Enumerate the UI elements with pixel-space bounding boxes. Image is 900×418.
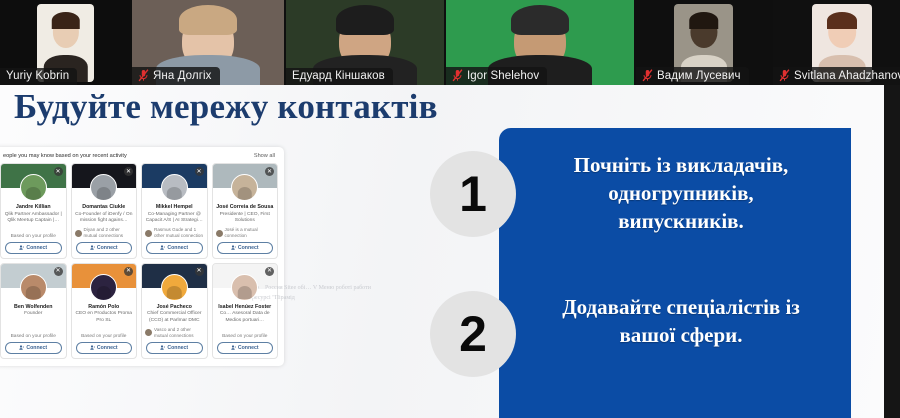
connect-button-label: Connect bbox=[97, 245, 118, 251]
add-person-icon bbox=[90, 245, 95, 250]
mutual-connections-text: José is a mutual connection bbox=[225, 227, 275, 238]
card-subtext: Based on your profile bbox=[222, 330, 267, 339]
participant-tile[interactable]: Яна Долгіх bbox=[132, 0, 284, 85]
avatar bbox=[90, 274, 117, 301]
person-headline: Co… Asesoral Data de Medios portuari… bbox=[213, 311, 278, 324]
connect-button[interactable]: Connect bbox=[146, 342, 203, 354]
person-suggestion-card[interactable]: ✕ Ramón Polo CEO en Productos Proma Pro … bbox=[71, 263, 138, 359]
connect-button[interactable]: Connect bbox=[76, 242, 133, 254]
add-person-icon bbox=[231, 245, 236, 250]
connect-button-label: Connect bbox=[167, 345, 188, 351]
microphone-muted-icon bbox=[642, 69, 653, 82]
page-title: Будуйте мережу контактів bbox=[14, 87, 438, 127]
avatar bbox=[20, 174, 47, 201]
widget-header: eople you may know based on your recent … bbox=[0, 152, 278, 163]
connect-button-label: Connect bbox=[167, 245, 188, 251]
participant-name: Едуард Кіншаков bbox=[292, 70, 385, 82]
participant-name-bar: Вадим Лусевич bbox=[636, 67, 749, 85]
dismiss-card-button[interactable]: ✕ bbox=[195, 167, 204, 176]
person-name[interactable]: José Pacheco bbox=[155, 304, 194, 311]
card-row-2: ✕ Ben Wolfenden Founder Based on your pr… bbox=[0, 263, 278, 359]
add-person-icon bbox=[160, 345, 165, 350]
avatar bbox=[20, 274, 47, 301]
person-headline: Co-Founder of iDenfy / On mission fight … bbox=[72, 212, 137, 225]
avatar bbox=[231, 174, 258, 201]
video-participant-strip: Yuriy Kobrin Яна Долгіх Едуард Кіншаков … bbox=[0, 0, 900, 85]
connect-button[interactable]: Connect bbox=[5, 242, 62, 254]
steps-blue-panel: Почніть із викладачів, одногрупників, ви… bbox=[499, 128, 851, 418]
mutual-connections: Diyan and 2 other mutual connections bbox=[72, 224, 137, 238]
person-headline: Chief Commercial Officer (CCO) at Parlma… bbox=[142, 311, 207, 324]
connect-button-label: Connect bbox=[97, 345, 118, 351]
person-name[interactable]: Ramón Polo bbox=[86, 304, 121, 311]
step-number-2: 2 bbox=[430, 291, 516, 377]
connect-button-label: Connect bbox=[238, 345, 259, 351]
add-person-icon bbox=[160, 245, 165, 250]
person-name[interactable]: Isabel Henúez Foster bbox=[216, 304, 273, 311]
mutual-connections: Vasco and 2 other mutual connections bbox=[142, 324, 207, 338]
person-suggestion-card[interactable]: ✕ Jandre Killian Qlik Partner Ambassador… bbox=[0, 163, 67, 259]
connect-button[interactable]: Connect bbox=[76, 342, 133, 354]
show-all-link[interactable]: Show all bbox=[254, 153, 275, 159]
person-headline: Founder bbox=[21, 311, 45, 317]
add-person-icon bbox=[19, 345, 24, 350]
participant-name-bar: Igor Shelehov bbox=[446, 67, 547, 85]
dismiss-card-button[interactable]: ✕ bbox=[54, 267, 63, 276]
avatar bbox=[161, 174, 188, 201]
mutual-avatar bbox=[75, 230, 82, 237]
connect-button[interactable]: Connect bbox=[217, 342, 274, 354]
dismiss-card-button[interactable]: ✕ bbox=[54, 167, 63, 176]
step-2-text: Додавайте спеціалістів із вашої сфери. bbox=[499, 294, 851, 350]
participant-tile[interactable]: Igor Shelehov bbox=[446, 0, 634, 85]
participant-name: Yuriy Kobrin bbox=[6, 70, 69, 82]
microphone-muted-icon bbox=[452, 69, 463, 82]
person-suggestion-card[interactable]: ✕ Mikkel Hempel Co-Managing Partner @ Ca… bbox=[141, 163, 208, 259]
step-1-text: Почніть із викладачів, одногрупників, ви… bbox=[499, 152, 851, 236]
dismiss-card-button[interactable]: ✕ bbox=[265, 167, 274, 176]
person-headline: Qlik Partner Ambassador | Qlik Meetup Ca… bbox=[1, 212, 66, 225]
dismiss-card-button[interactable]: ✕ bbox=[195, 267, 204, 276]
person-name[interactable]: Mikkel Hempel bbox=[154, 204, 195, 211]
mutual-connections-text: Vasco and 2 other mutual connections bbox=[154, 327, 204, 338]
participant-name-bar: Yuriy Kobrin bbox=[0, 68, 77, 85]
participant-name: Вадим Лусевич bbox=[657, 70, 741, 82]
widget-header-label: eople you may know based on your recent … bbox=[3, 153, 127, 159]
slide-canvas: Будуйте мережу контактів eople you may k… bbox=[0, 85, 884, 418]
participant-tile[interactable]: Едуард Кіншаков bbox=[286, 0, 444, 85]
mutual-connections: José is a mutual connection bbox=[213, 224, 278, 238]
person-name[interactable]: Jandre Killian bbox=[14, 204, 53, 211]
avatar bbox=[161, 274, 188, 301]
connect-button-label: Connect bbox=[238, 245, 259, 251]
person-name[interactable]: José Correia de Sousa bbox=[214, 204, 275, 211]
mutual-avatar bbox=[145, 329, 152, 336]
mutual-avatar bbox=[216, 230, 223, 237]
person-suggestion-card[interactable]: ✕ Domantas Ciukle Co-Founder of iDenfy /… bbox=[71, 163, 138, 259]
linkedin-people-you-may-know-widget: eople you may know based on your recent … bbox=[0, 147, 284, 366]
microphone-muted-icon bbox=[138, 69, 149, 82]
participant-name-bar: Яна Долгіх bbox=[132, 67, 220, 85]
dismiss-card-button[interactable]: ✕ bbox=[265, 267, 274, 276]
connect-button-label: Connect bbox=[26, 245, 47, 251]
connect-button[interactable]: Connect bbox=[5, 342, 62, 354]
card-subtext: Based on your profile bbox=[81, 330, 126, 339]
participant-name: Яна Долгіх bbox=[153, 70, 212, 82]
mutual-avatar bbox=[145, 230, 152, 237]
connect-button-label: Connect bbox=[26, 345, 47, 351]
add-person-icon bbox=[19, 245, 24, 250]
microphone-muted-icon bbox=[779, 69, 790, 82]
connect-button[interactable]: Connect bbox=[217, 242, 274, 254]
person-headline: Presidente | CEO, First Solutions bbox=[213, 212, 278, 225]
person-name[interactable]: Ben Wolfenden bbox=[12, 304, 54, 311]
add-person-icon bbox=[231, 345, 236, 350]
person-suggestion-card[interactable]: ✕ Isabel Henúez Foster Co… Asesoral Data… bbox=[212, 263, 279, 359]
add-person-icon bbox=[90, 345, 95, 350]
person-suggestion-card[interactable]: ✕ José Correia de Sousa Presidente | CEO… bbox=[212, 163, 279, 259]
mutual-connections-text: Rasmus Gude and 1 other mutual connectio… bbox=[154, 227, 204, 238]
participant-name: Svitlana Ahadzhanova bbox=[794, 70, 900, 82]
mutual-connections: Rasmus Gude and 1 other mutual connectio… bbox=[142, 224, 207, 238]
person-suggestion-card[interactable]: ✕ Ben Wolfenden Founder Based on your pr… bbox=[0, 263, 67, 359]
shared-slide-area: Будуйте мережу контактів eople you may k… bbox=[0, 85, 900, 418]
person-headline: CEO en Productos Proma Pro SL bbox=[72, 311, 137, 324]
participant-name: Igor Shelehov bbox=[467, 70, 539, 82]
participant-name-bar: Svitlana Ahadzhanova bbox=[773, 67, 900, 85]
participant-tile[interactable]: Yuriy Kobrin bbox=[0, 0, 130, 85]
avatar bbox=[231, 274, 258, 301]
background-ghost-text: Со…Россия Siteе обі… V Меню роботі работ… bbox=[252, 283, 372, 303]
dismiss-card-button[interactable]: ✕ bbox=[124, 267, 133, 276]
card-row-1: ✕ Jandre Killian Qlik Partner Ambassador… bbox=[0, 163, 278, 259]
person-name[interactable]: Domantas Ciukle bbox=[80, 204, 127, 211]
dismiss-card-button[interactable]: ✕ bbox=[124, 167, 133, 176]
slide-right-edge bbox=[884, 85, 900, 418]
participant-name-bar: Едуард Кіншаков bbox=[286, 68, 393, 85]
avatar bbox=[90, 174, 117, 201]
participant-tile[interactable]: Svitlana Ahadzhanova bbox=[773, 0, 900, 85]
person-headline: Co-Managing Partner @ Capacit A/S | AI S… bbox=[142, 212, 207, 225]
connect-button[interactable]: Connect bbox=[146, 242, 203, 254]
card-subtext: Based on your profile bbox=[11, 230, 56, 239]
participant-tile[interactable]: Вадим Лусевич bbox=[636, 0, 771, 85]
person-suggestion-card[interactable]: ✕ José Pacheco Chief Commercial Officer … bbox=[141, 263, 208, 359]
card-subtext: Based on your profile bbox=[11, 330, 56, 339]
mutual-connections-text: Diyan and 2 other mutual connections bbox=[84, 227, 134, 238]
step-number-1: 1 bbox=[430, 151, 516, 237]
